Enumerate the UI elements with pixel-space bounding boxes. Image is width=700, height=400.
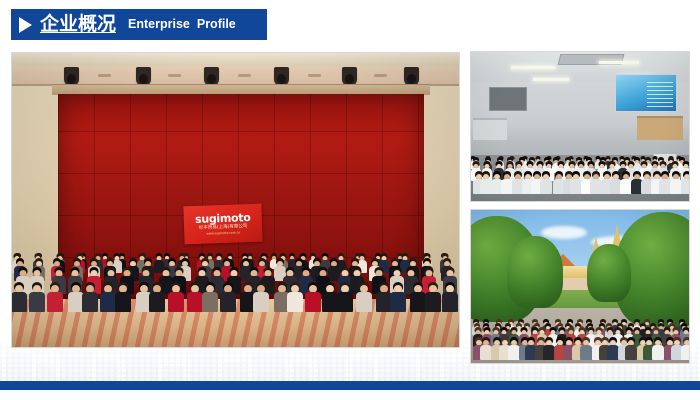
ceiling-slot [374, 74, 387, 77]
torso [580, 345, 592, 360]
photo-company-group-auditorium[interactable]: sugimoto 杉本贸易(上海)有限公司 www.sugimoto.com.c… [11, 52, 460, 348]
torso [287, 292, 303, 312]
crowd-group [471, 275, 689, 361]
torso [220, 292, 236, 312]
torso [82, 292, 98, 312]
torso [390, 292, 406, 312]
photo-team-trip-temple[interactable] [470, 209, 690, 364]
torso [681, 345, 690, 360]
ceiling-light-icon [599, 61, 639, 64]
person [322, 283, 338, 311]
person [625, 338, 637, 359]
person [410, 283, 426, 311]
torso [410, 292, 426, 312]
torso [322, 292, 338, 312]
auditorium-light-beam [12, 66, 459, 86]
person [168, 283, 184, 311]
person [287, 283, 303, 311]
torso [47, 292, 63, 312]
office-scene [471, 52, 689, 201]
person [29, 283, 45, 311]
torso [115, 292, 131, 312]
torso [100, 292, 116, 312]
torso [253, 292, 269, 312]
torso [356, 292, 372, 312]
crowd-group [471, 103, 689, 195]
slide-root: { "slide": { "background_color": "#fffff… [0, 0, 700, 400]
torso [149, 292, 165, 312]
torso [681, 179, 690, 194]
page-title-en-word-2: Profile [197, 17, 236, 31]
travel-scene [471, 210, 689, 363]
ceiling-slot [308, 74, 321, 77]
page-title-cn: 企业概况 [40, 15, 116, 34]
ceiling-light-icon [533, 78, 569, 81]
torso [29, 292, 45, 312]
person [100, 283, 116, 311]
ceiling-light-icon [511, 66, 555, 69]
person [187, 283, 203, 311]
page-title-en: EnterpriseProfile [128, 18, 236, 31]
footer-rule [0, 381, 700, 390]
ceiling-slot [168, 74, 181, 77]
person [540, 172, 552, 193]
auditorium-ceiling [12, 53, 459, 67]
person [47, 283, 63, 311]
person [220, 283, 236, 311]
ceiling-slot [98, 74, 111, 77]
person [681, 172, 690, 193]
person [390, 283, 406, 311]
torso [540, 179, 552, 194]
torso [187, 292, 203, 312]
torso [625, 345, 637, 360]
torso [168, 292, 184, 312]
auditorium-scene: sugimoto 杉本贸易(上海)有限公司 www.sugimoto.com.c… [12, 53, 459, 347]
torso [337, 292, 353, 312]
person [253, 283, 269, 311]
person [115, 283, 131, 311]
page-title-en-word-1: Enterprise [128, 17, 190, 31]
person [202, 283, 218, 311]
play-triangle-icon [19, 17, 32, 33]
ceiling-slot [238, 74, 251, 77]
torso [11, 292, 27, 312]
cloud [541, 226, 587, 239]
person [337, 283, 353, 311]
torso [442, 292, 458, 312]
section-header-banner: 企业概况 EnterpriseProfile [11, 9, 267, 40]
person [652, 338, 664, 359]
person [305, 283, 321, 311]
person [356, 283, 372, 311]
torso [652, 345, 664, 360]
person [681, 338, 690, 359]
person [580, 338, 592, 359]
crowd-group [12, 175, 459, 315]
person [149, 283, 165, 311]
person [442, 283, 458, 311]
person [11, 283, 27, 311]
photo-staff-group-office[interactable] [470, 51, 690, 202]
torso [425, 292, 441, 312]
person [425, 283, 441, 311]
torso [202, 292, 218, 312]
person [82, 283, 98, 311]
torso [305, 292, 321, 312]
